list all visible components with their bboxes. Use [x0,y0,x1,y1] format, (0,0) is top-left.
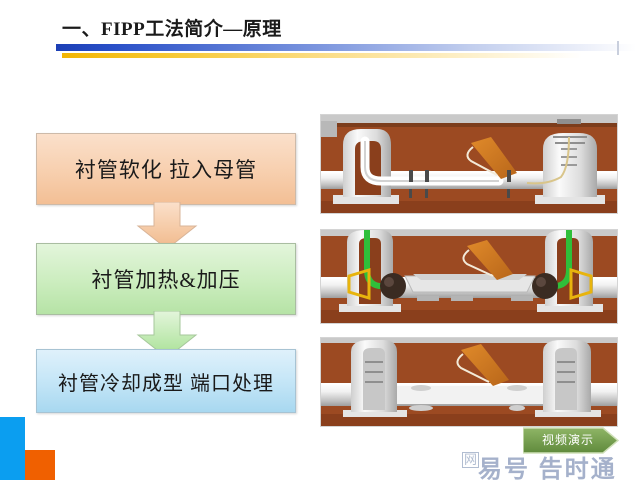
flow-step-soften-label: 衬管软化 拉入母管 [75,154,257,184]
divider-bar-blue [56,44,636,51]
watermark-mark: 网 [462,452,479,468]
flow-step-cool-label: 衬管冷却成型 端口处理 [58,367,274,396]
corner-swatch-blue [0,417,25,480]
page-title: 一、FIPP工法简介—原理 [62,14,282,41]
divider-bar-gold [62,53,582,58]
illustration-liner-heated-and-pressurized [320,229,618,324]
flow-step-soften[interactable]: 衬管软化 拉入母管 [36,133,296,205]
flow-step-heat[interactable]: 衬管加热&加压 [36,243,296,315]
flow-step-heat-label: 衬管加热&加压 [91,264,240,294]
watermark-text: 易号 告时通 [478,449,617,480]
illustration-liner-pulled-into-host-pipe [320,114,618,214]
corner-swatch-orange [25,450,55,480]
flow-step-cool[interactable]: 衬管冷却成型 端口处理 [36,349,296,413]
slide-canvas: 一、FIPP工法简介—原理 衬管软化 拉入母管 衬管加热&加压 [0,0,640,480]
illustration-liner-cooled-and-ends-finished [320,337,618,427]
video-demo-label: 视频演示 [531,432,605,448]
divider-end-tick [617,41,619,55]
